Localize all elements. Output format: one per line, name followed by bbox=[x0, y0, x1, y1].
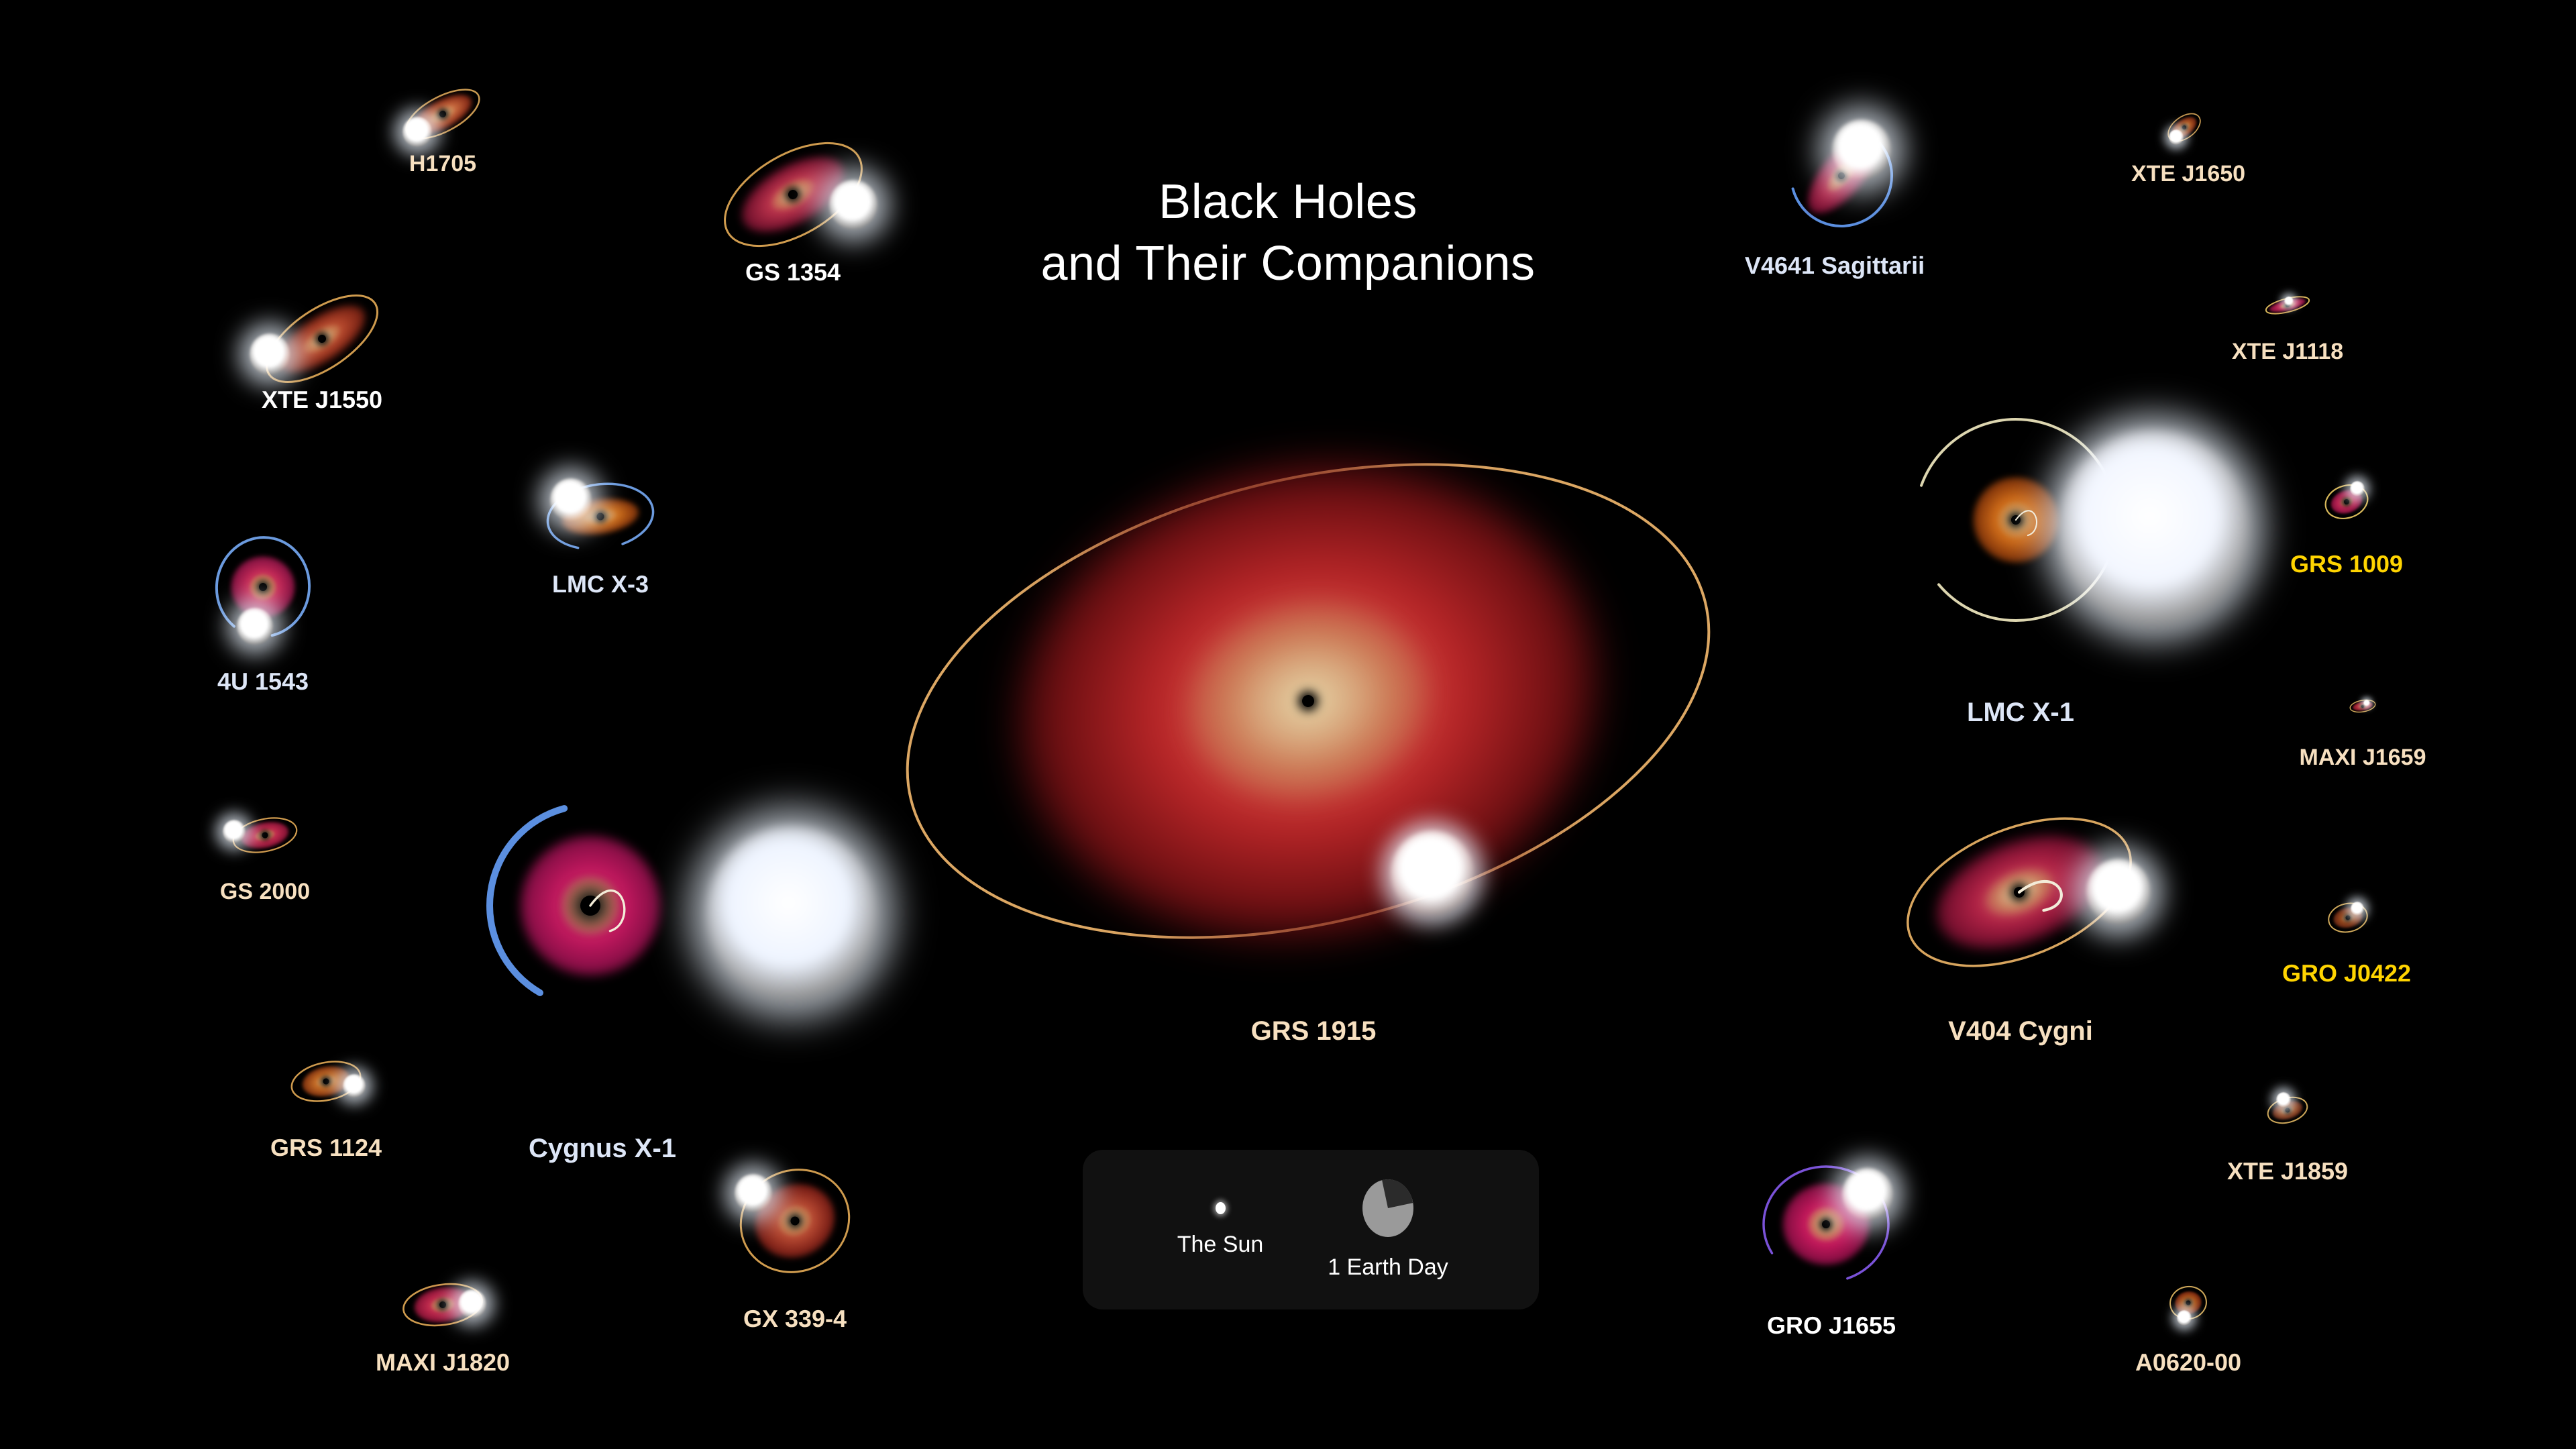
system-label-gx3394: GX 339-4 bbox=[743, 1305, 847, 1333]
system-label-h1705: H1705 bbox=[409, 151, 476, 177]
system-label-maxij1659: MAXI J1659 bbox=[2300, 745, 2426, 771]
system-label-grs1124: GRS 1124 bbox=[270, 1134, 382, 1162]
legend-item-earth-day: 1 Earth Day bbox=[1297, 1179, 1479, 1281]
companion-star-groj0422 bbox=[2351, 902, 2364, 916]
system-label-v4641: V4641 Sagittarii bbox=[1745, 252, 1925, 280]
accretion-disk-cygnusx1 bbox=[520, 835, 661, 976]
companion-star-lmcx1 bbox=[2058, 430, 2249, 625]
title-line-2: and Their Companions bbox=[0, 233, 2576, 294]
system-label-grs1915: GRS 1915 bbox=[1251, 1016, 1377, 1046]
accretion-disk-4u1543 bbox=[231, 556, 295, 618]
legend-label-sun: The Sun bbox=[1177, 1232, 1264, 1258]
system-label-grs1009: GRS 1009 bbox=[2290, 550, 2403, 578]
companion-star-v404cygni bbox=[2086, 859, 2151, 924]
system-label-lmcx1: LMC X-1 bbox=[1967, 698, 2074, 728]
companion-star-gx3394 bbox=[735, 1174, 772, 1212]
legend-label-earth-day: 1 Earth Day bbox=[1328, 1254, 1448, 1281]
system-label-xtej1550: XTE J1550 bbox=[262, 386, 382, 414]
companion-star-grs1124 bbox=[343, 1074, 366, 1097]
system-label-xtej1650: XTE J1650 bbox=[2131, 161, 2245, 187]
accretion-disk-lmcx1 bbox=[1973, 477, 2059, 563]
system-label-xtej1118: XTE J1118 bbox=[2232, 339, 2343, 365]
clock-wedge bbox=[1382, 1179, 1413, 1208]
title-line-1: Black Holes bbox=[1159, 175, 1417, 229]
accretion-disk-xtej1550 bbox=[268, 292, 376, 386]
companion-star-h1705 bbox=[402, 117, 432, 147]
companion-star-gs1354 bbox=[829, 180, 877, 229]
system-label-v404cygni: V404 Cygni bbox=[1948, 1016, 2093, 1046]
system-label-cygnusx1: Cygnus X-1 bbox=[529, 1134, 676, 1164]
companion-star-cygnusx1 bbox=[706, 826, 877, 1000]
companion-star-v4641 bbox=[1832, 119, 1891, 180]
system-label-gs1354: GS 1354 bbox=[745, 258, 841, 286]
black-hole-core-groj1655 bbox=[1822, 1220, 1830, 1228]
accretion-disk-gs2000 bbox=[239, 818, 291, 853]
companion-star-4u1543 bbox=[237, 608, 273, 645]
system-label-groj0422: GRO J0422 bbox=[2282, 959, 2411, 987]
sky-canvas: Black Holes and Their Companions H1705GS… bbox=[0, 0, 2576, 1449]
companion-star-grs1915 bbox=[1391, 830, 1474, 916]
system-label-gs2000: GS 2000 bbox=[220, 879, 310, 905]
system-label-4u1543: 4U 1543 bbox=[217, 667, 309, 696]
system-label-groj1655: GRO J1655 bbox=[1767, 1311, 1896, 1340]
system-label-lmcx3: LMC X-3 bbox=[552, 570, 649, 598]
companion-star-lmcx3 bbox=[550, 478, 592, 521]
black-hole-core-4u1543 bbox=[259, 583, 267, 591]
black-hole-core-cygnusx1 bbox=[580, 896, 600, 916]
companion-star-xtej1550 bbox=[250, 333, 290, 375]
system-label-a062000: A0620-00 bbox=[2135, 1348, 2241, 1377]
accretion-disk-maxij1659 bbox=[2352, 700, 2373, 712]
companion-star-a062000 bbox=[2177, 1310, 2192, 1326]
system-label-xtej1859: XTE J1859 bbox=[2227, 1157, 2348, 1185]
companion-star-grs1009 bbox=[2350, 481, 2365, 496]
clock-disc-icon bbox=[1362, 1179, 1413, 1237]
companion-star-gs2000 bbox=[223, 820, 246, 843]
companion-star-xtej1650 bbox=[2169, 129, 2184, 145]
black-hole-core-lmcx1 bbox=[2011, 515, 2021, 525]
companion-star-groj1655 bbox=[1842, 1168, 1893, 1220]
sun-dot-icon bbox=[1216, 1202, 1226, 1214]
legend-item-sun: The Sun bbox=[1143, 1202, 1297, 1258]
system-label-maxij1820: MAXI J1820 bbox=[376, 1348, 510, 1377]
scale-legend: The Sun 1 Earth Day bbox=[1083, 1150, 1539, 1309]
companion-star-xtej1859 bbox=[2276, 1092, 2291, 1108]
page-title: Black Holes and Their Companions bbox=[0, 171, 2576, 294]
companion-star-maxij1820 bbox=[458, 1289, 486, 1318]
accretion-disk-grs1915 bbox=[974, 411, 1643, 991]
